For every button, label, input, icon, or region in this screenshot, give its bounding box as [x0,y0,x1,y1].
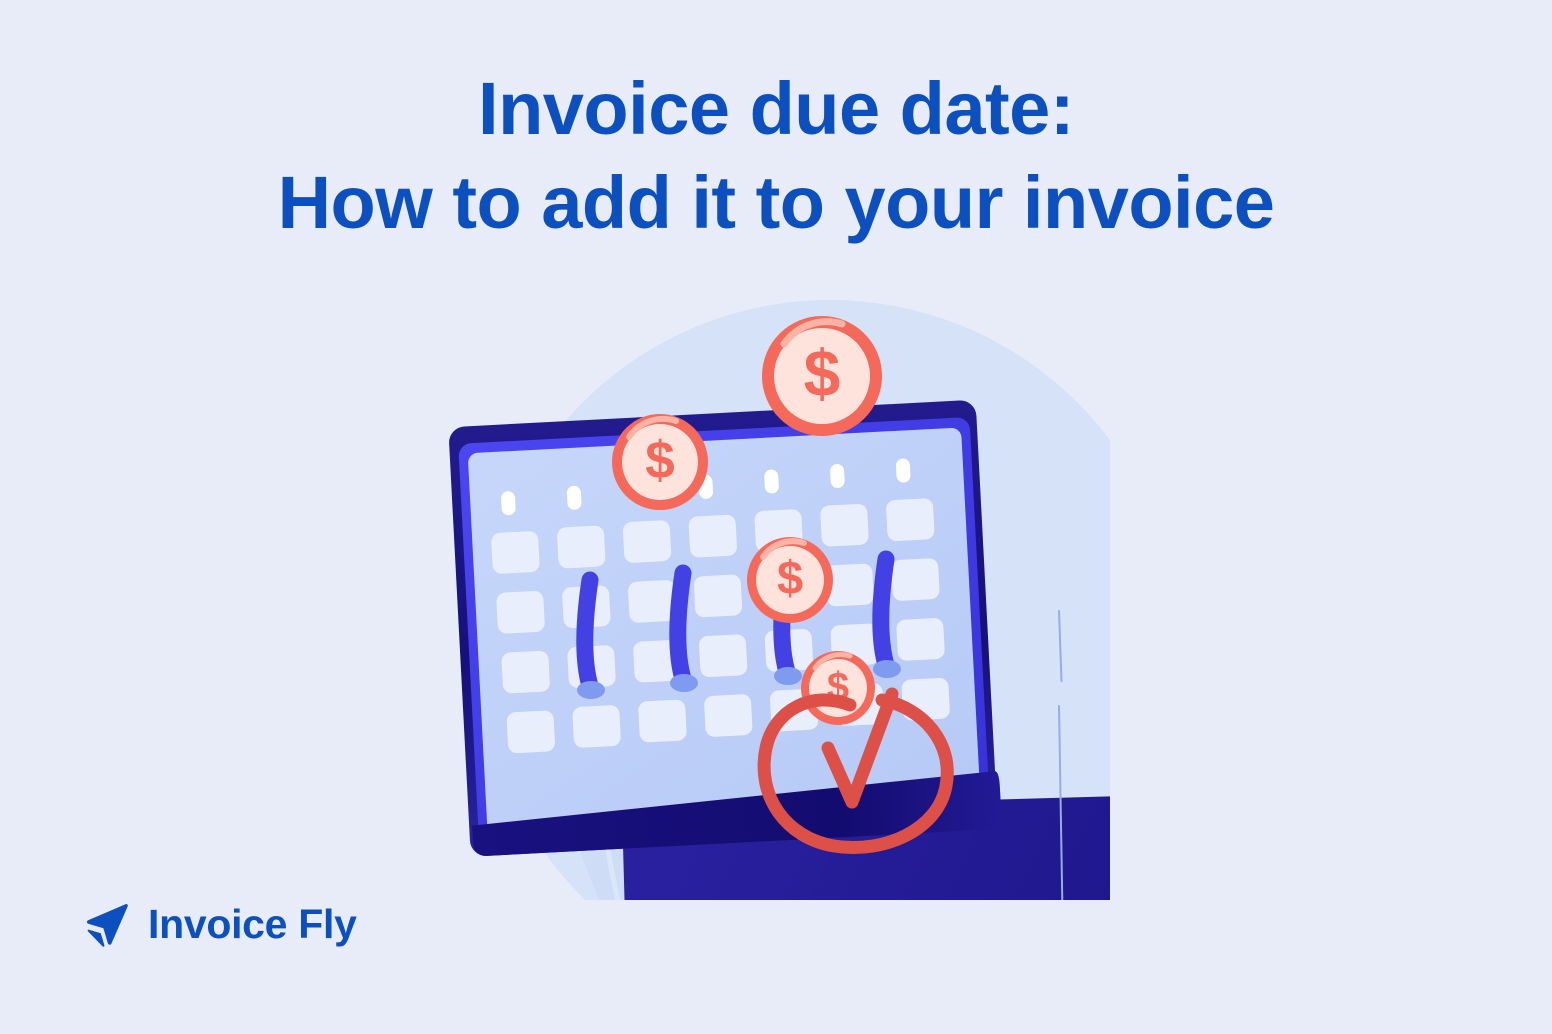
brand-name: Invoice Fly [148,902,357,946]
paper-plane-icon [80,898,132,950]
date-cell [699,634,748,677]
date-cell [622,520,671,563]
coin-large: $ [762,316,882,436]
coin-tiny: $ [801,651,875,725]
date-cell [628,580,677,623]
date-cell [496,591,545,634]
date-cell [572,705,621,748]
page-title-line-1: Invoice due date: [0,62,1552,156]
coin-symbol: $ [645,431,674,490]
calendar-illustration: $ $ $ $ [430,250,1110,900]
date-cell [891,558,940,601]
date-cell [491,531,540,574]
date-cell [704,694,753,737]
date-cell [688,514,737,557]
coin-symbol: $ [777,551,803,604]
page-title-line-2: How to add it to your invoice [0,156,1552,250]
brand-logo[interactable]: Invoice Fly [80,898,357,950]
header-pill [896,458,911,483]
coin-symbol: $ [804,336,841,410]
date-cell [501,650,550,693]
coin-small: $ [747,537,833,623]
header-pill [764,469,779,494]
poster-canvas: Invoice due date: How to add it to your … [0,0,1552,1034]
date-cell [506,710,555,753]
date-cell [896,618,945,661]
header-pill [830,464,845,489]
coin-medium: $ [612,414,708,510]
date-cell [693,574,742,617]
header-pill [567,485,582,510]
date-cell [638,699,687,742]
page-title: Invoice due date: How to add it to your … [0,62,1552,250]
header-pill [501,491,516,516]
date-cell [557,525,606,568]
date-cell [820,503,869,546]
date-cell [886,498,935,541]
